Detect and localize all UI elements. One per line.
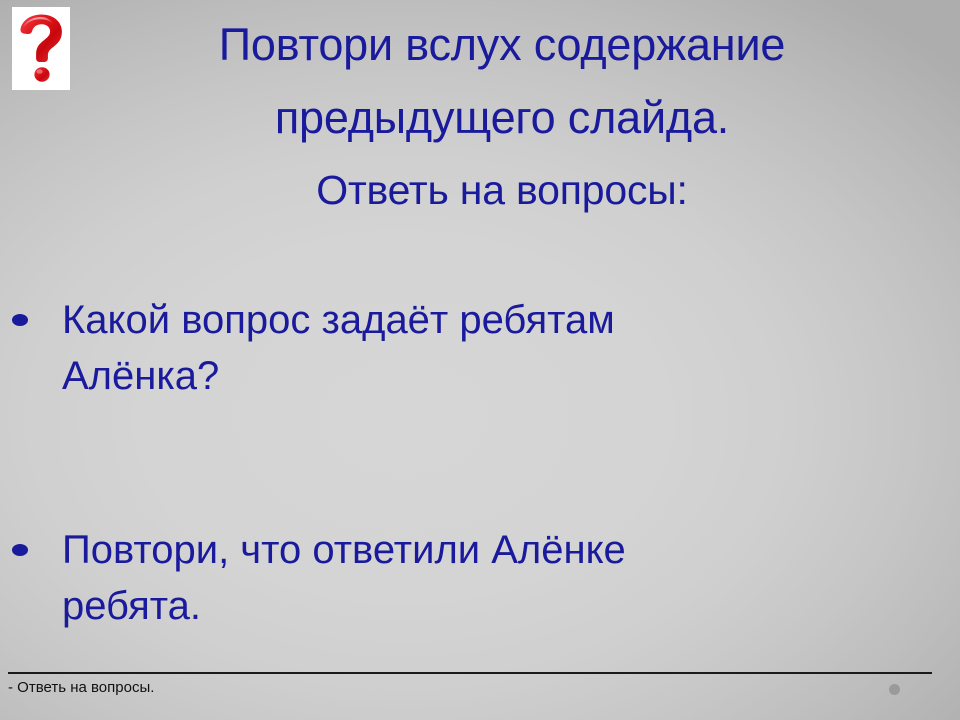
bullet-1-text: Какой вопрос задаёт ребятам xyxy=(62,298,615,342)
bullet-2-text-tail: ребята. xyxy=(62,578,932,634)
bullet-1-text-tail: Алёнка? xyxy=(62,348,932,404)
title-line-1: Повтори вслух содержание xyxy=(78,8,926,81)
title-line-3: Ответь на вопросы: xyxy=(78,154,926,227)
footer-dot-icon xyxy=(889,684,900,695)
footer-divider xyxy=(8,672,932,674)
title-line-2: предыдущего слайда. xyxy=(78,81,926,154)
slide-body: Какой вопрос задаёт ребятам Алёнка? Повт… xyxy=(0,292,960,634)
footer-note: - Ответь на вопросы. xyxy=(8,678,154,698)
bullet-item: Какой вопрос задаёт ребятам Алёнка? xyxy=(0,292,960,404)
bullet-dot-icon xyxy=(12,544,28,556)
presentation-slide: Повтори вслух содержание предыдущего сла… xyxy=(0,0,960,720)
question-mark-image xyxy=(12,7,70,90)
bullet-2-text: Повтори, что ответили Алёнке xyxy=(62,528,626,572)
bullet-dot-icon xyxy=(12,314,28,326)
question-mark-icon xyxy=(12,7,70,90)
slide-title: Повтори вслух содержание предыдущего сла… xyxy=(78,8,926,227)
bullet-item: Повтори, что ответили Алёнке ребята. xyxy=(0,522,960,634)
